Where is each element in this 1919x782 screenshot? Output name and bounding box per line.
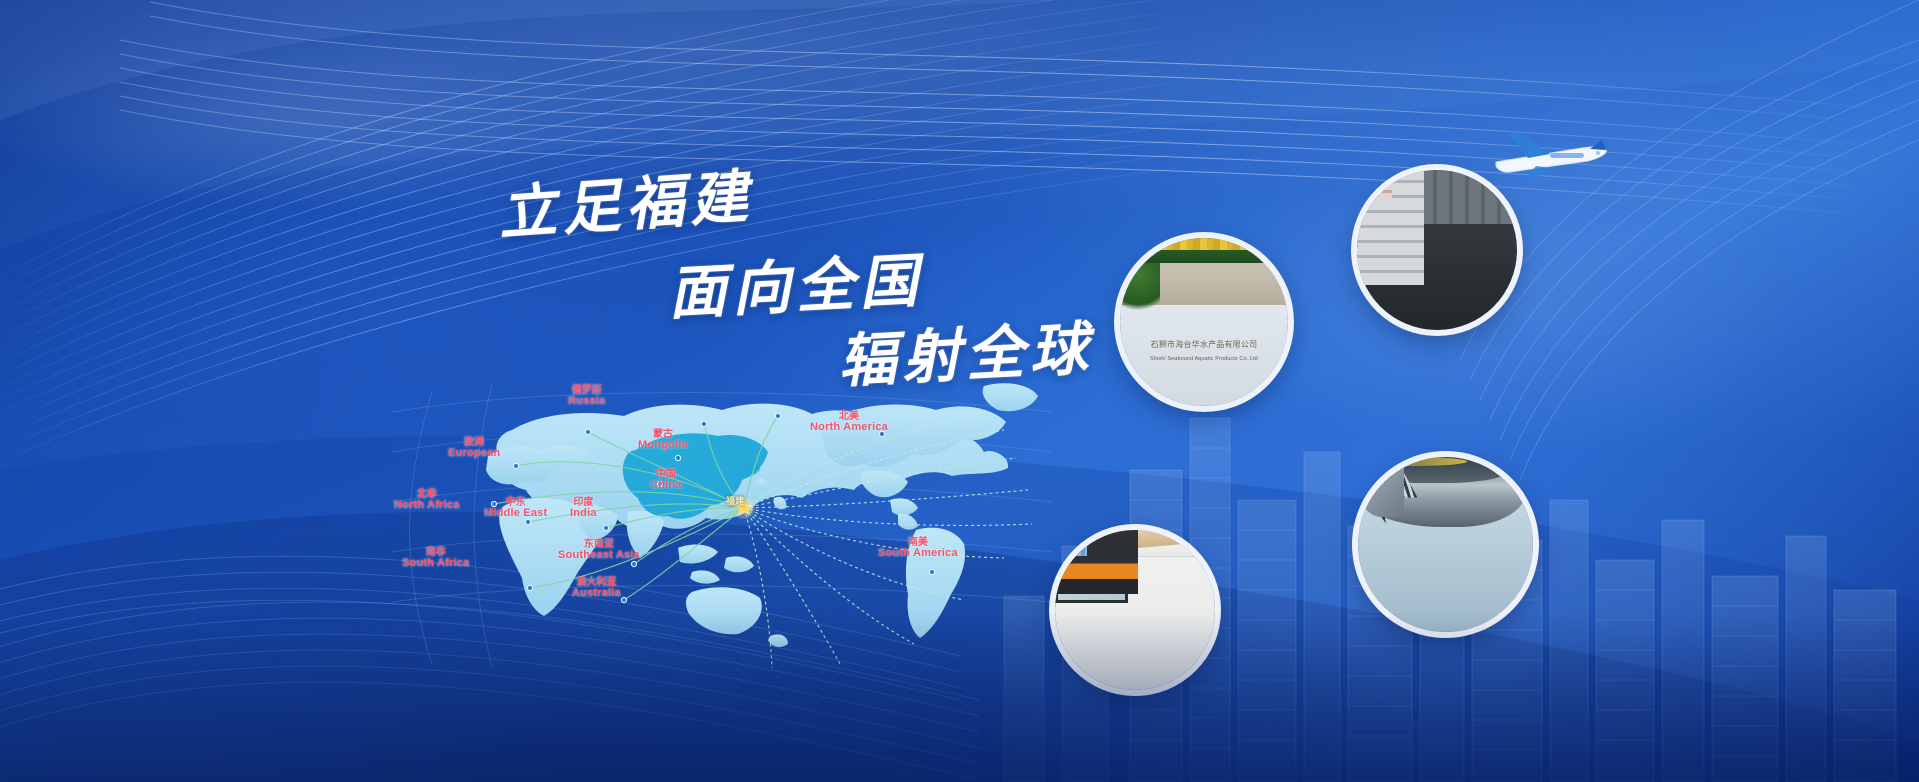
map-label-mongolia: 蒙古 Mongolia xyxy=(638,430,688,451)
map-label-australia: 澳大利亚 Australia xyxy=(572,578,621,599)
photo-tuna-fish[interactable] xyxy=(1358,457,1533,632)
map-label-european-en: European xyxy=(448,448,500,459)
map-label-russia: 俄罗斯 Russia xyxy=(568,386,605,407)
map-label-south-america-en: South America xyxy=(878,548,958,559)
headline-line-1: 立足福建 xyxy=(495,149,755,251)
map-label-russia-en: Russia xyxy=(568,396,605,407)
photo-cold-storage[interactable] xyxy=(1357,170,1517,330)
map-label-southeast-asia: 东南亚 Southeast Asia xyxy=(558,540,640,561)
map-label-south-africa-en: South Africa xyxy=(402,558,469,569)
map-label-south-america: 南美 South America xyxy=(878,538,958,559)
map-label-middle-east: 中东 Middle East xyxy=(484,498,547,519)
map-label-north-america: 北美 North America xyxy=(810,412,888,433)
fish-eye-icon xyxy=(1358,457,1374,473)
map-label-south-africa: 南非 South Africa xyxy=(402,548,469,569)
world-map: 俄罗斯 Russia 蒙古 Mongolia 中国 China 欧洲 Europ… xyxy=(392,372,1052,672)
map-label-southeast-asia-en: Southeast Asia xyxy=(558,550,640,561)
factory-sign-caption-en: Shishi Seabound Aquatic Products Co.,Ltd xyxy=(1128,356,1279,406)
map-label-north-africa-en: North Africa xyxy=(394,500,460,511)
map-label-australia-en: Australia xyxy=(572,588,621,599)
photo-office-workstations[interactable] xyxy=(1055,530,1215,690)
map-label-china-en: China xyxy=(650,480,682,491)
photo-factory-entrance[interactable]: 石狮市海台华水产品有限公司 Shishi Seabound Aquatic Pr… xyxy=(1120,238,1288,406)
map-label-india: 印度 India xyxy=(570,498,597,519)
hero-banner: 立足福建 面向全国 辐射全球 xyxy=(0,0,1919,782)
map-label-china: 中国 China xyxy=(650,470,682,491)
map-label-india-en: India xyxy=(570,508,597,519)
map-label-north-africa: 北非 North Africa xyxy=(394,490,460,511)
map-label-mongolia-en: Mongolia xyxy=(638,440,688,451)
map-label-north-america-en: North America xyxy=(810,422,888,433)
map-label-european: 欧洲 European xyxy=(448,438,500,459)
map-label-middle-east-en: Middle East xyxy=(484,508,547,519)
map-label-hub: 福建 xyxy=(726,494,744,507)
